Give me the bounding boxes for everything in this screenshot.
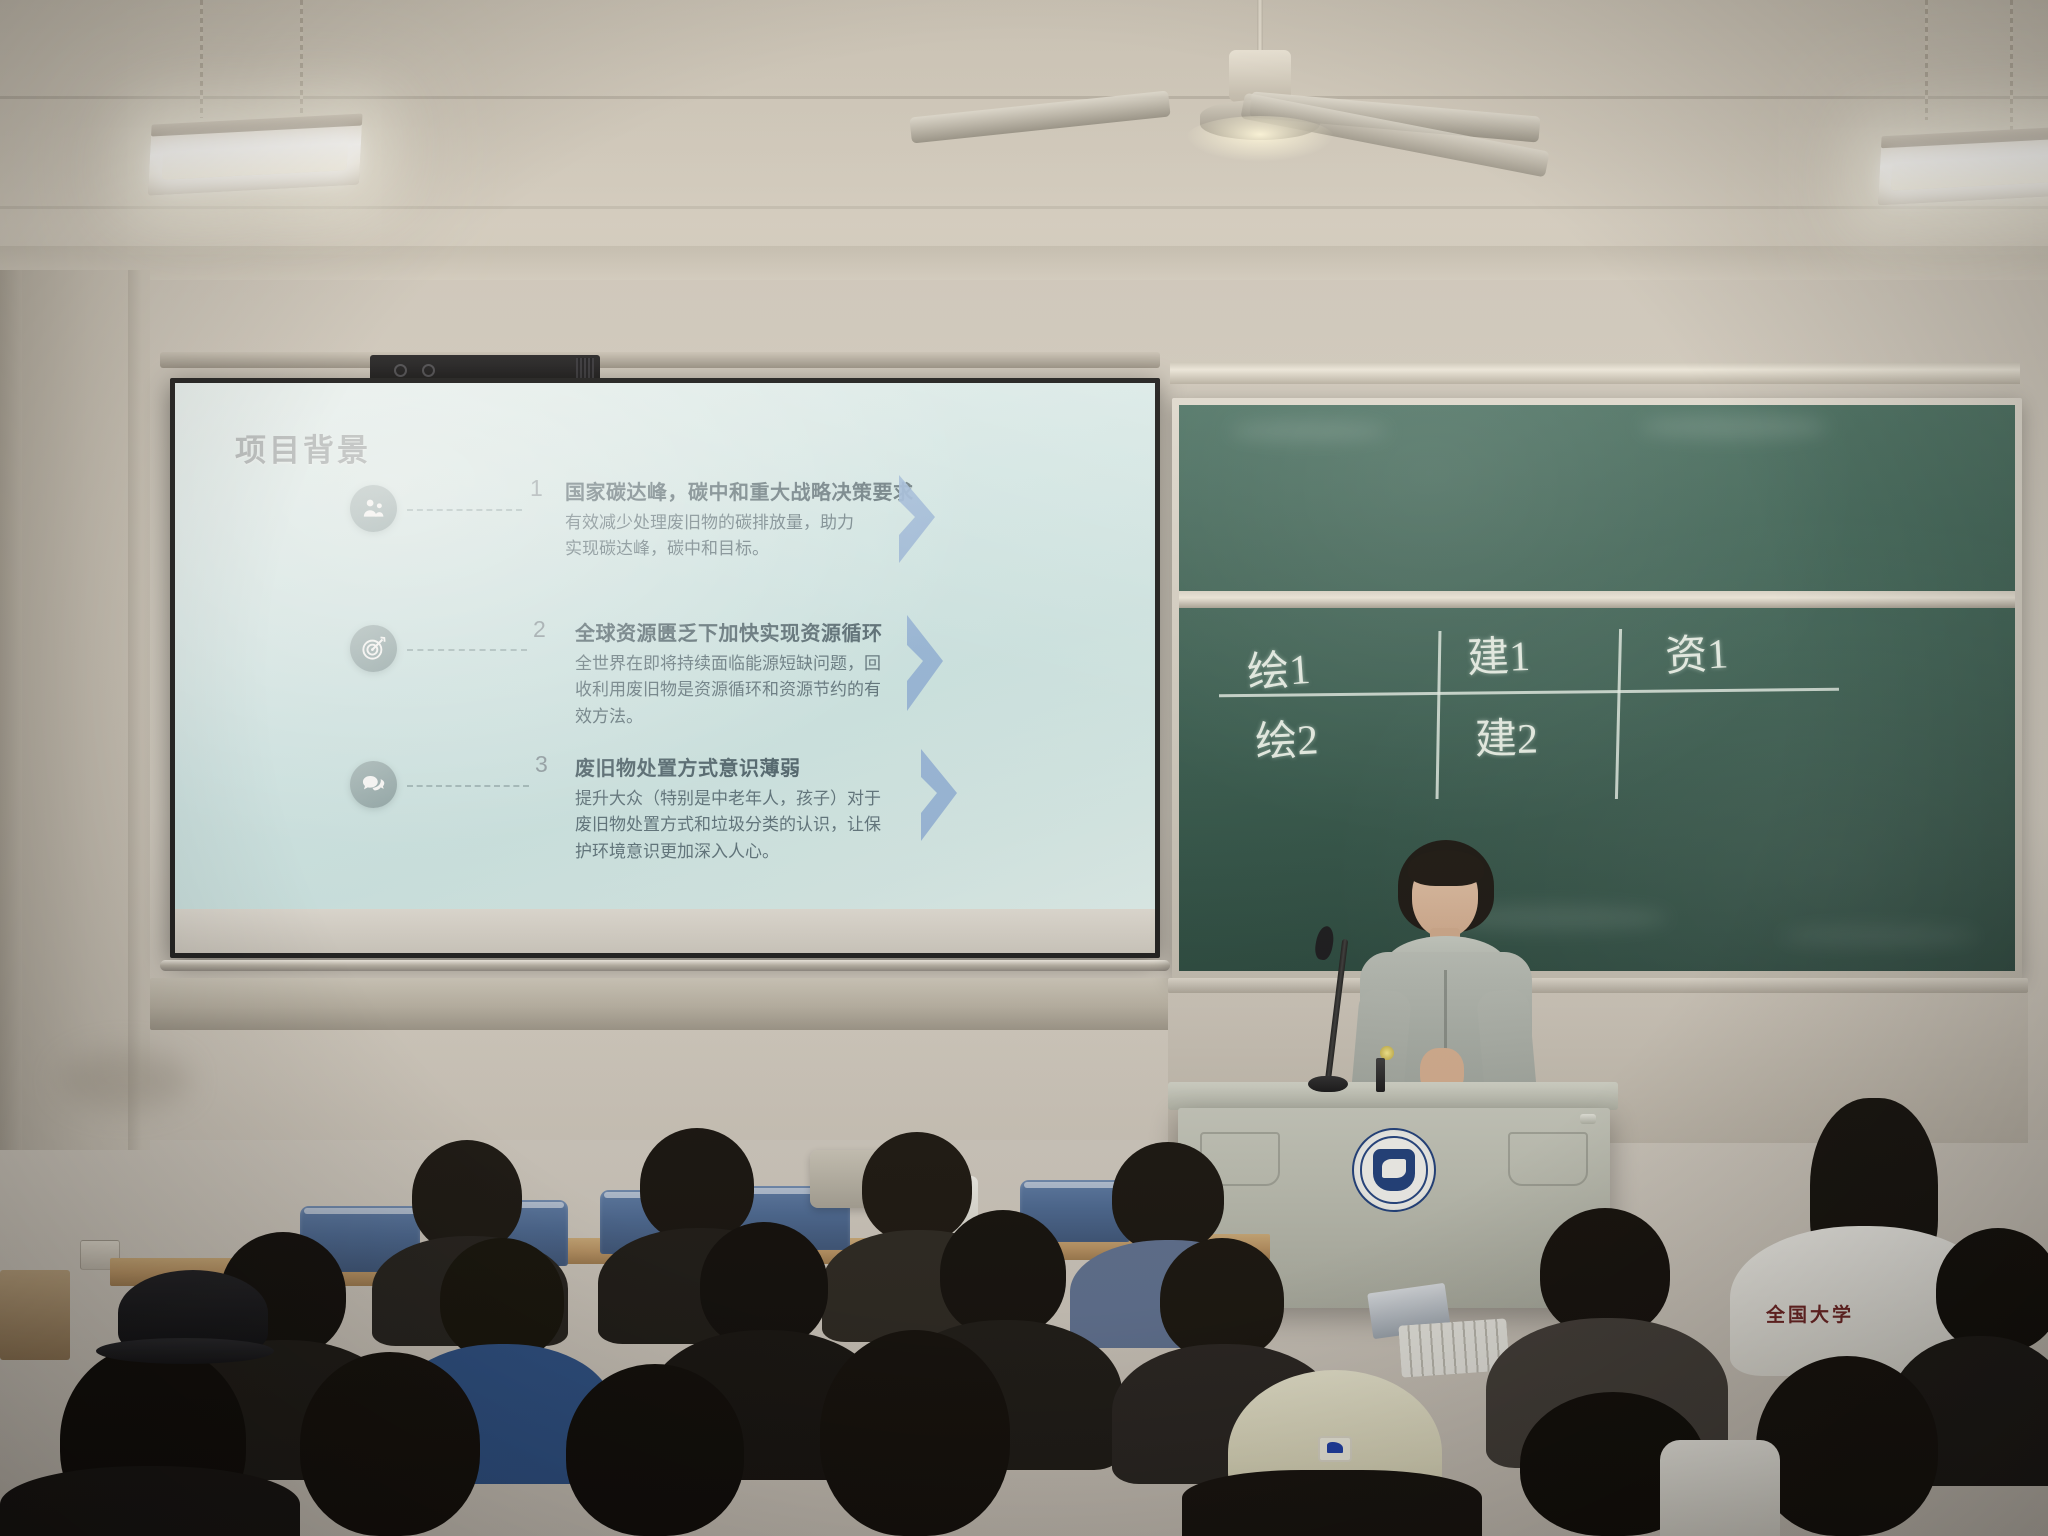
item-2-body: 全世界在即将持续面临能源短缺问题，回收利用废旧物是资源循环和资源节约的有效方法。	[575, 651, 882, 730]
projection-screen: 项目背景 1 国家碳达峰，碳中和重大战略决策要求 有效减少处理废	[170, 378, 1160, 958]
item-3-body: 提升大众（特别是中老年人，孩子）对于废旧物处置方式和垃圾分类的认识，让保护环境意…	[575, 786, 893, 865]
student-sleeve	[1660, 1440, 1780, 1536]
item-2-connector	[407, 649, 527, 651]
item-3-number: 3	[535, 751, 548, 778]
item-3-connector	[407, 785, 529, 787]
blackboard-cell-2: 资1	[1663, 619, 1729, 683]
blackboard-middle-rail	[1179, 591, 2015, 608]
university-emblem	[1352, 1128, 1436, 1212]
projection-screen-roller	[160, 960, 1170, 971]
ceiling-fan-icon	[1090, 0, 1430, 170]
item-2-chevron-right-icon	[903, 611, 949, 720]
podium-top-surface	[1168, 1082, 1618, 1110]
item-3-chevron-right-icon	[917, 745, 963, 850]
wall-cabinet	[0, 1270, 70, 1360]
blackboard-cell-0: 绘1	[1245, 635, 1312, 700]
podium-panel-right	[1508, 1132, 1588, 1186]
shirt-text: 全国大学	[1766, 1300, 1854, 1327]
podium-button[interactable]	[1580, 1114, 1596, 1124]
blackboard-track	[1170, 362, 2020, 384]
item-2-heading: 全球资源匮乏下加快实现资源循环	[575, 617, 883, 646]
blackboard-cell-3: 绘2	[1253, 705, 1319, 769]
people-group-icon	[350, 485, 397, 532]
black-cap-brim	[96, 1338, 274, 1364]
slide-title: 项目背景	[235, 425, 371, 470]
lecture-hall-photo: 项目背景 1 国家碳达峰，碳中和重大战略决策要求 有效减少处理废	[0, 0, 2048, 1536]
mlb-logo-icon	[1318, 1436, 1352, 1462]
item-1-connector	[407, 509, 522, 511]
screen-chalk-ledge	[150, 978, 1180, 1030]
target-dartboard-icon	[350, 625, 397, 672]
item-1-number: 1	[530, 475, 543, 502]
projection-screen-mount	[160, 352, 1160, 368]
blackboard-chalk-rail	[1168, 978, 2028, 993]
item-1-body: 有效减少处理废旧物的碳排放量，助力实现碳达峰，碳中和目标。	[565, 510, 865, 563]
blackboard: 绘1 建1 资1 绘2 建2	[1172, 398, 2022, 978]
item-2-number: 2	[533, 616, 546, 643]
microphone-base	[1308, 1076, 1348, 1092]
blackboard-cell-4: 建2	[1474, 704, 1538, 766]
blackboard-cell-1: 建1	[1466, 622, 1531, 685]
presentation-slide: 项目背景 1 国家碳达峰，碳中和重大战略决策要求 有效减少处理废	[175, 383, 1155, 953]
presenter-bangs	[1408, 850, 1484, 886]
item-1-heading: 国家碳达峰，碳中和重大战略决策要求	[565, 476, 914, 505]
item-3-heading: 废旧物处置方式意识薄弱	[575, 752, 801, 781]
podium-small-mic	[1376, 1058, 1385, 1092]
speech-bubbles-icon	[350, 761, 397, 808]
item-1-chevron-right-icon	[895, 471, 941, 572]
